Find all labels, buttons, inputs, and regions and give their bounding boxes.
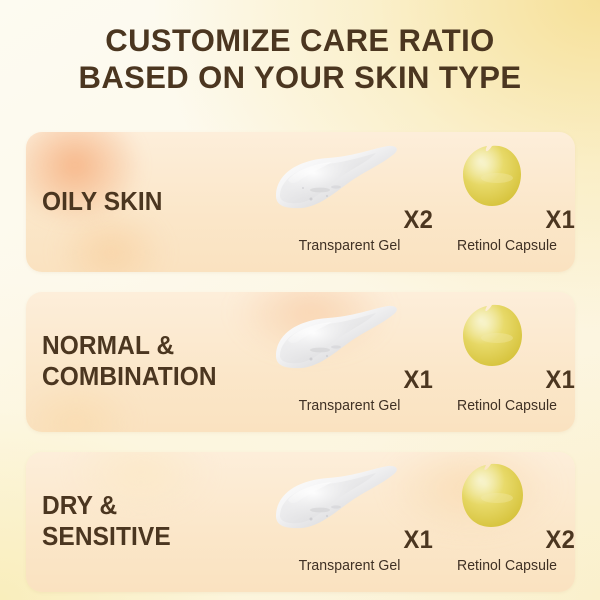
product-transparent-gel: X1 Transparent Gel	[262, 452, 437, 592]
retinol-capsule-icon	[437, 142, 575, 214]
card-heading: NORMAL & COMBINATION	[42, 292, 253, 432]
gel-swatch-icon	[262, 142, 437, 214]
skin-type-card: OILY SKIN	[26, 132, 575, 272]
card-heading-line: SENSITIVE	[42, 522, 253, 553]
skin-type-card: NORMAL & COMBINATION X1 Transparent Gel	[26, 292, 575, 432]
product-quantity: X2	[404, 206, 433, 235]
product-label: Transparent Gel	[265, 558, 435, 574]
card-heading: OILY SKIN	[42, 132, 253, 272]
card-heading-line: COMBINATION	[42, 362, 253, 393]
infographic-page: CUSTOMIZE CARE RATIO BASED ON YOUR SKIN …	[0, 0, 600, 600]
card-heading: DRY & SENSITIVE	[42, 452, 253, 592]
product-transparent-gel: X2 Transparent Gel	[262, 132, 437, 272]
product-retinol-capsule: X2 Retinol Capsule	[437, 452, 575, 592]
product-transparent-gel: X1 Transparent Gel	[262, 292, 437, 432]
product-label: Retinol Capsule	[439, 558, 575, 574]
gel-swatch-icon	[262, 302, 437, 374]
product-quantity: X1	[546, 206, 575, 235]
product-quantity: X1	[404, 526, 433, 555]
product-quantity: X2	[546, 526, 575, 555]
retinol-capsule-icon	[437, 302, 575, 374]
product-retinol-capsule: X1 Retinol Capsule	[437, 132, 575, 272]
page-title-line-2: BASED ON YOUR SKIN TYPE	[5, 59, 596, 96]
card-heading-line: NORMAL &	[42, 331, 253, 362]
product-label: Retinol Capsule	[439, 398, 575, 414]
card-heading-line: OILY SKIN	[42, 187, 253, 218]
product-quantity: X1	[546, 366, 575, 395]
product-retinol-capsule: X1 Retinol Capsule	[437, 292, 575, 432]
page-title: CUSTOMIZE CARE RATIO BASED ON YOUR SKIN …	[0, 22, 600, 96]
product-label: Retinol Capsule	[439, 238, 575, 254]
product-quantity: X1	[404, 366, 433, 395]
card-heading-line: DRY &	[42, 491, 253, 522]
page-title-line-1: CUSTOMIZE CARE RATIO	[5, 22, 596, 59]
retinol-capsule-icon	[437, 462, 575, 534]
skin-type-card: DRY & SENSITIVE X1 Transparent Gel	[26, 452, 575, 592]
product-label: Transparent Gel	[265, 398, 435, 414]
product-label: Transparent Gel	[265, 238, 435, 254]
gel-swatch-icon	[262, 462, 437, 534]
